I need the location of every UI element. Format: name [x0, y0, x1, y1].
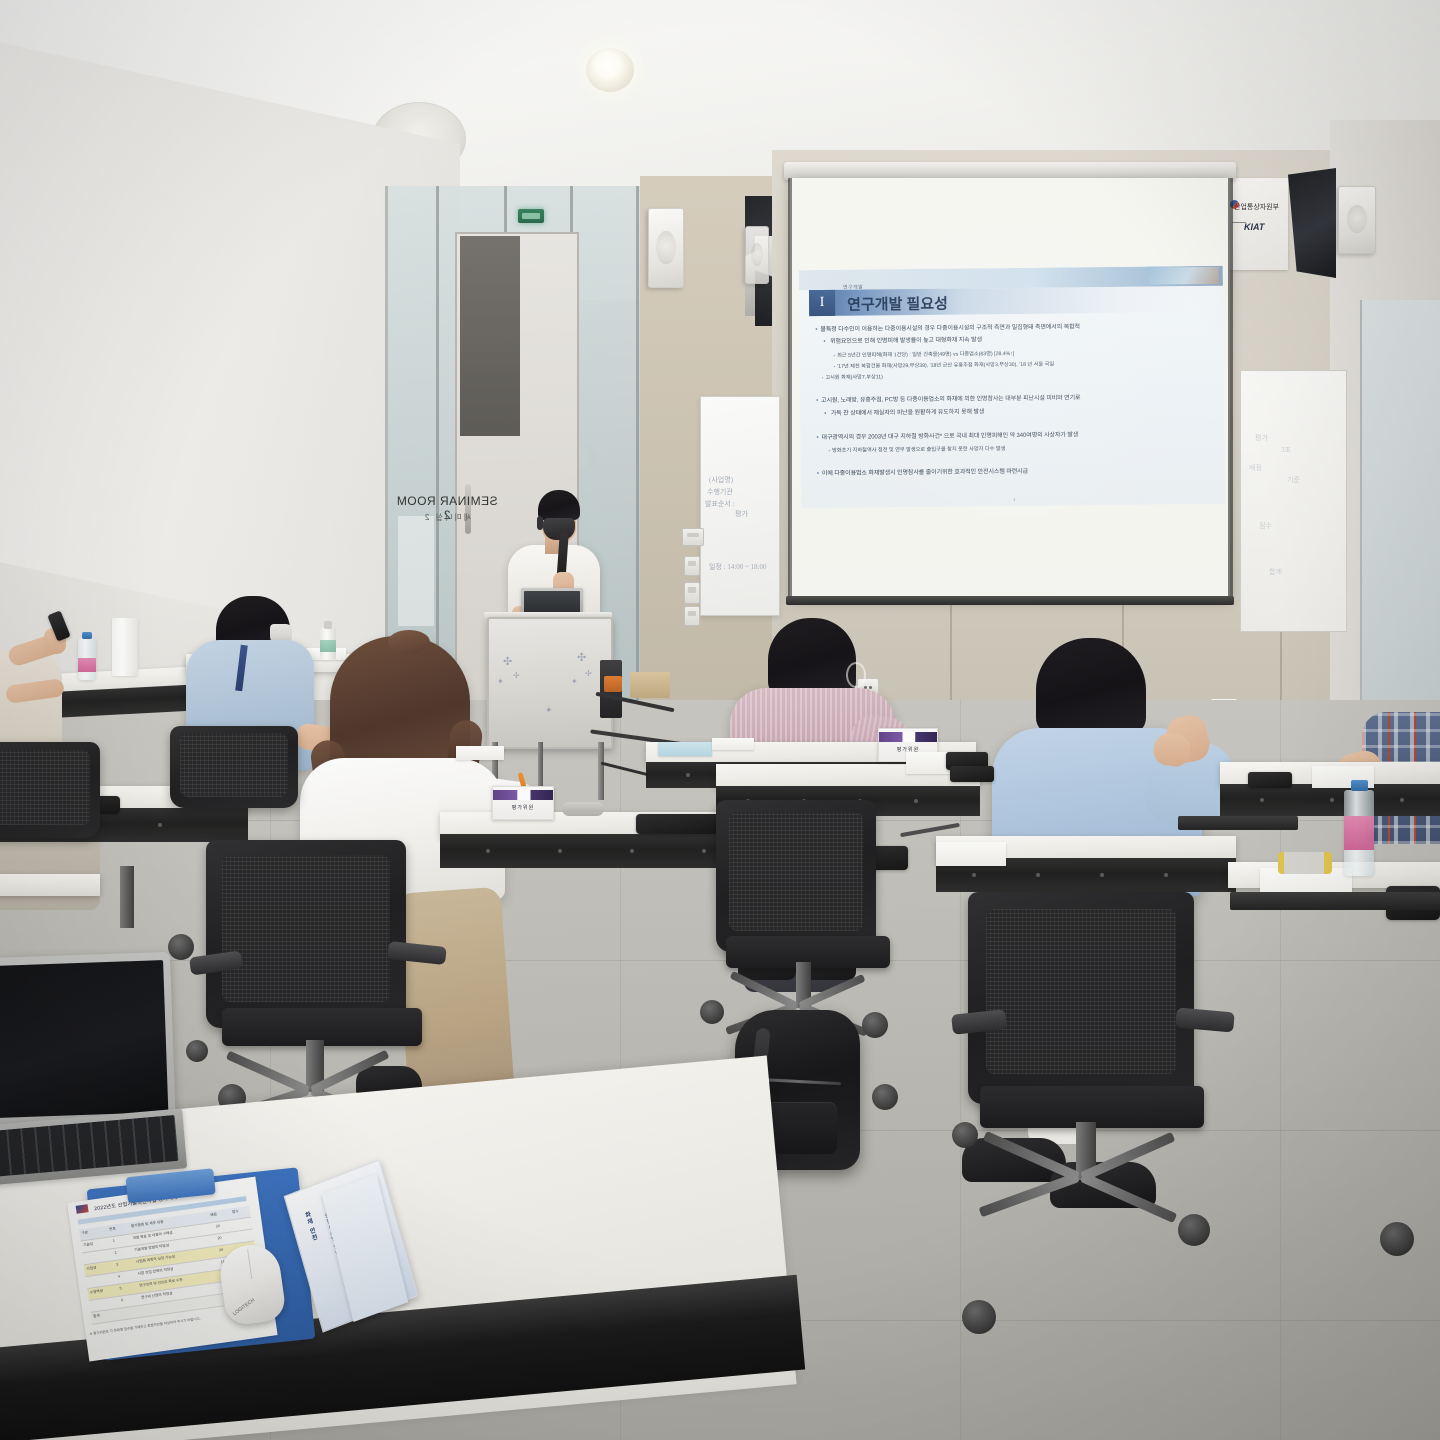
person-light-blue-hair	[1036, 638, 1146, 734]
cell: 합계	[93, 1314, 100, 1320]
slide-bullet-text: 위험요인으로 인해 인명피해 발생률이 높고 대형화재 지속 발생	[830, 337, 982, 345]
whiteboard-right: 평가 3조 배점 기준 점수 합계	[1240, 370, 1347, 632]
paper-sheet	[936, 842, 1006, 866]
laptop-keys[interactable]	[0, 1115, 179, 1179]
cell: 1	[113, 1239, 116, 1243]
presenter-mask-strap	[537, 516, 543, 530]
wall-speaker-icon	[1338, 186, 1376, 254]
whiteboard-back: (사업명) 수행기관 발표순서 : 평가 일정 : 14:00 ~ 18:00	[700, 396, 780, 616]
wall-speaker-icon	[648, 208, 684, 288]
whiteboard-note: 평가	[735, 509, 748, 519]
eyeglasses-icon	[562, 802, 604, 816]
person-pink-shirt-hair	[768, 618, 856, 696]
smartphone[interactable]	[636, 814, 720, 834]
door-upper-panel	[460, 236, 520, 436]
right-glass-partition	[1360, 300, 1440, 730]
kiat-logo-label: KIAT	[1244, 222, 1264, 232]
chair-caster	[168, 934, 194, 960]
slide-subbullet: 고시원 화재(사망7,부상11)	[822, 373, 883, 382]
office-chair-back[interactable]	[206, 840, 406, 1028]
mouse-button-split	[247, 1249, 252, 1279]
whiteboard-note: 기준	[1287, 475, 1300, 485]
slide-header-image	[1149, 267, 1219, 285]
office-chair-back[interactable]	[716, 800, 876, 952]
cell: 20	[217, 1236, 222, 1241]
desk-row-front-leftmost	[0, 874, 100, 896]
orange-box	[604, 676, 622, 692]
wall-light-switch[interactable]	[684, 556, 700, 576]
slide-bullet: 대구광역시의 경우 2003년 대구 지하철 방화사건* 으로 국내 최대 인명…	[816, 431, 1078, 444]
brochure-title: 화재 안전	[302, 1210, 319, 1243]
wall-speaker-icon	[745, 226, 769, 284]
chair-caster	[962, 1300, 996, 1334]
desk-row-mid-left-front	[440, 834, 760, 868]
cell: 점수	[232, 1209, 239, 1215]
slide-bullet-cont: 위험요인으로 인해 인명피해 발생률이 높고 대형화재 지속 발생	[823, 336, 982, 348]
smartphone[interactable]	[1248, 772, 1292, 788]
podium-leg	[598, 742, 604, 800]
seminar-room-photo: SEMINAR ROOM 2 세미나실 2 산업통상자원부 KIAT	[0, 0, 1440, 1440]
cell: 번호	[109, 1227, 116, 1233]
slide-title: 연구개발 필요성	[847, 293, 948, 315]
ministry-logo-label: 산업통상자원부	[1234, 202, 1279, 212]
slide-page-number: 4	[1013, 497, 1015, 502]
paper-sheet	[658, 742, 712, 756]
whiteboard-note: 발표순서 :	[705, 499, 734, 509]
wall-control-panel[interactable]	[682, 528, 704, 546]
agency-logo-plate: 산업통상자원부 KIAT	[1228, 178, 1288, 270]
chair-caster	[1178, 1214, 1210, 1246]
screen-edge	[788, 178, 792, 598]
chair-post	[120, 866, 134, 928]
whiteboard-note: 3조	[1281, 445, 1291, 455]
room-sign-ko: 세미나실 2	[392, 512, 502, 523]
cell: 수행역량	[90, 1289, 104, 1296]
whiteboard-note: 일정 : 14:00 ~ 18:00	[709, 562, 767, 572]
desk-rail	[1230, 892, 1440, 910]
slide-subbullet: 최근 5년간 인명피해(화재 1건당) : 일반 건축물(49명) vs 다중업…	[834, 350, 1015, 360]
whiteboard-note: 배점	[1249, 463, 1262, 473]
smartphone[interactable]	[950, 766, 994, 782]
placard-band	[493, 790, 553, 801]
chair-caster	[1380, 1222, 1414, 1256]
placard-band	[879, 732, 937, 743]
projector-screen-bottom-bar	[786, 596, 1234, 605]
cell: 시장 진입 전략의 적정성	[137, 1267, 173, 1277]
wall-light-switch[interactable]	[684, 582, 700, 604]
exit-sign-icon	[518, 209, 544, 223]
cell: 20	[216, 1224, 221, 1229]
presentation-slide: I 연구개발 연구개발 필요성 불특정 다수인이 이용하는 다중이용시설의 경우…	[799, 266, 1225, 508]
office-chair-back[interactable]	[0, 742, 100, 838]
mouse-brand-label: LOGITECH	[232, 1297, 256, 1317]
water-bottle	[1344, 790, 1374, 876]
slide-bullet-cont: 가득 찬 상태에서 재실자의 피난을 원활하게 유도하지 못해 발생	[824, 408, 984, 420]
screen-edge	[1228, 178, 1233, 598]
slide-bullet: 이에 다중이용업소 화재발생시 인명참사를 줄이기위한 효과적인 안전시스템 마…	[817, 468, 1028, 480]
cell: 사업화 계획의 실현 가능성	[136, 1255, 176, 1265]
backpack-zipper	[757, 1078, 841, 1085]
cardboard-box	[630, 672, 670, 698]
whiteboard-note: 수행기관	[707, 487, 733, 497]
cell: 3	[116, 1263, 119, 1267]
chair-caster	[862, 1012, 888, 1038]
cell: 구분	[81, 1230, 88, 1236]
office-chair-back[interactable]	[170, 726, 298, 808]
cell: 6	[121, 1298, 124, 1302]
name-placard: 평가위원	[492, 786, 554, 820]
person-pink-shirt-ear-loop	[846, 662, 866, 688]
whiteboard-note: 점수	[1259, 521, 1272, 531]
water-bottle	[78, 638, 96, 680]
hand-sanitizer-bottle	[320, 628, 336, 660]
whiteboard-note: (사업명)	[709, 475, 733, 485]
cell: 배점	[210, 1212, 217, 1218]
office-chair-back[interactable]	[968, 892, 1194, 1104]
chair-caster	[186, 1040, 208, 1062]
slide-kicker: 연구개발	[843, 284, 863, 291]
document-logo-icon	[76, 1204, 89, 1214]
chair-caster	[700, 1000, 724, 1024]
person-white-blouse-bun	[388, 630, 430, 654]
paper-sheet	[712, 738, 754, 750]
cell: 5	[119, 1286, 122, 1290]
whiteboard-note: 합계	[1269, 567, 1282, 577]
slide-subbullet: 방화초기 지하철역사 정전 및 연무 발생으로 출입구를 찾지 못한 사망자 다…	[829, 445, 1006, 455]
clipboard[interactable]: 2022년도 산업기술혁신사업 평가계획 구분 번호 평가항목 및 세부 내용 …	[87, 1167, 316, 1360]
room-sign: SEMINAR ROOM 2 세미나실 2	[392, 490, 502, 536]
slide-bullet: 불특정 다수인이 이용하는 다중이용시설의 경우 다중이용시설의 구조적 측면과…	[815, 323, 1080, 336]
cell: 기술개발 방법의 타당성	[134, 1243, 169, 1253]
snack-pack	[1278, 852, 1332, 874]
wall-light-switch[interactable]	[684, 606, 700, 626]
chair-caster	[872, 1084, 898, 1110]
slide-section-number: I	[809, 290, 835, 316]
chair-caster	[952, 1122, 978, 1148]
paper-sheet	[456, 746, 504, 760]
slide-bullet-text: 가득 찬 상태에서 재실자의 피난을 원활하게 유도하지 못해 발생	[831, 409, 985, 417]
cell: 연구비 산정의 적정성	[141, 1291, 173, 1300]
placard-name-label: 평가위원	[493, 804, 553, 811]
cell: 4	[118, 1274, 121, 1278]
cell: 20	[219, 1248, 224, 1253]
presenter-hair	[538, 490, 580, 520]
whiteboard-note: 평가	[1255, 433, 1268, 443]
cell: 사업성	[86, 1266, 97, 1272]
cell: 2	[114, 1251, 117, 1255]
slide-subbullet: '17년 제천 복합건물 화재(사망29,부상39), '18년 군산 유흥주점…	[834, 361, 1054, 372]
cell: 기술성	[83, 1242, 94, 1248]
cell: 평가항목 및 세부 내용	[131, 1220, 164, 1230]
desk-row-far-right-front	[1220, 784, 1440, 816]
paper-cup-stack	[112, 618, 138, 676]
desk-rail	[1178, 816, 1298, 830]
ceiling-downlight	[586, 48, 634, 92]
slide-bullet: 고시원, 노래방, 유흥주점, PC방 등 다중이용업소의 화재에 의한 인명참…	[816, 394, 1080, 407]
